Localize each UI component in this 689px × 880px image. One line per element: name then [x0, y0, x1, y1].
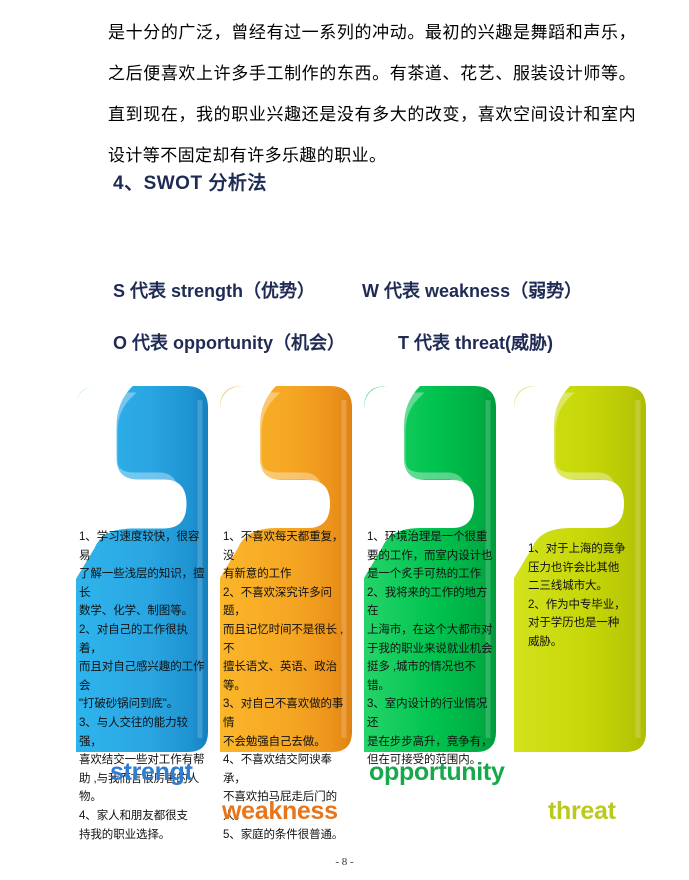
legend-opportunity: O 代表 opportunity（机会）	[113, 329, 345, 355]
swot-label-strength: strengt	[110, 758, 193, 787]
legend-weakness: W 代表 weakness（弱势）	[362, 277, 582, 303]
swot-card-weakness: 1、不喜欢每天都重复，没 有新意的工作 2、不喜欢深究许多问题， 而且记忆时间不…	[216, 380, 359, 752]
swot-diagram: 1、学习速度较快，很容易 了解一些浅层的知识，擅长 数学、化学、制图等。 2、对…	[0, 380, 689, 760]
section-heading: 4、SWOT 分析法	[113, 168, 267, 195]
swot-card-opportunity-body: 1、环境治理是一个很重 要的工作，而室内设计也 是一个炙手可热的工作 2、我将来…	[367, 528, 496, 770]
legend-row-sw: S 代表 strength（优势） W 代表 weakness（弱势）	[113, 277, 643, 303]
swot-card-opportunity: 1、环境治理是一个很重 要的工作，而室内设计也 是一个炙手可热的工作 2、我将来…	[360, 380, 503, 752]
legend-row-ot: O 代表 opportunity（机会） T 代表 threat(威胁)	[113, 329, 643, 355]
swot-card-threat: 1、对于上海的竟争 压力也许会比其他 二三线城市大。 2、作为中专毕业， 对于学…	[510, 380, 653, 752]
swot-card-threat-body: 1、对于上海的竟争 压力也许会比其他 二三线城市大。 2、作为中专毕业， 对于学…	[528, 540, 640, 652]
swot-label-opportunity: opportunity	[369, 758, 505, 787]
swot-card-strength-body: 1、学习速度较快，很容易 了解一些浅层的知识，擅长 数学、化学、制图等。 2、对…	[79, 528, 208, 844]
legend-threat: T 代表 threat(威胁)	[398, 329, 553, 355]
swot-label-weakness: weakness	[222, 797, 338, 826]
intro-paragraph: 是十分的广泛，曾经有过一系列的冲动。最初的兴趣是舞蹈和声乐，之后便喜欢上许多手工…	[108, 0, 636, 176]
document-body: 是十分的广泛，曾经有过一系列的冲动。最初的兴趣是舞蹈和声乐，之后便喜欢上许多手工…	[108, 0, 636, 176]
page-number: - 8 -	[0, 856, 689, 868]
legend-strength: S 代表 strength（优势）	[113, 277, 315, 303]
swot-label-threat: threat	[548, 797, 616, 826]
swot-card-strength: 1、学习速度较快，很容易 了解一些浅层的知识，擅长 数学、化学、制图等。 2、对…	[72, 380, 215, 752]
